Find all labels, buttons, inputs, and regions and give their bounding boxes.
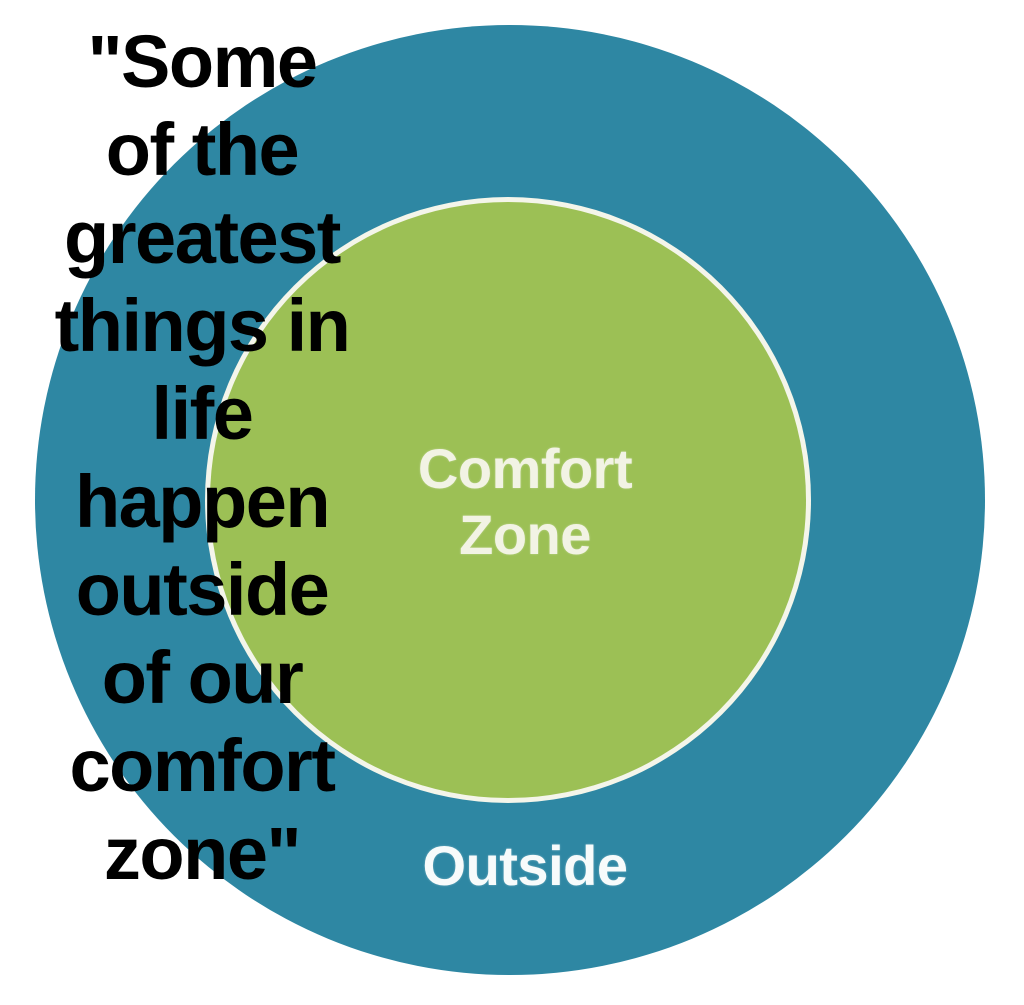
quote-line: "Some	[16, 18, 388, 106]
quote-line: zone"	[16, 810, 388, 898]
quote-line: comfort	[16, 722, 388, 810]
quote-line: of the	[16, 106, 388, 194]
outside-label: Outside	[330, 833, 720, 899]
comfort-zone-label: Comfort Zone	[330, 436, 720, 568]
quote-line: greatest	[16, 194, 388, 282]
quote-line: outside	[16, 546, 388, 634]
quote-line: things in	[16, 282, 388, 370]
quote-text: "Some of the greatest things in life hap…	[16, 18, 388, 898]
quote-line: happen	[16, 458, 388, 546]
quote-line: life	[16, 370, 388, 458]
diagram-canvas: Comfort Zone Outside "Some of the greate…	[0, 0, 1024, 1005]
quote-line: of our	[16, 634, 388, 722]
